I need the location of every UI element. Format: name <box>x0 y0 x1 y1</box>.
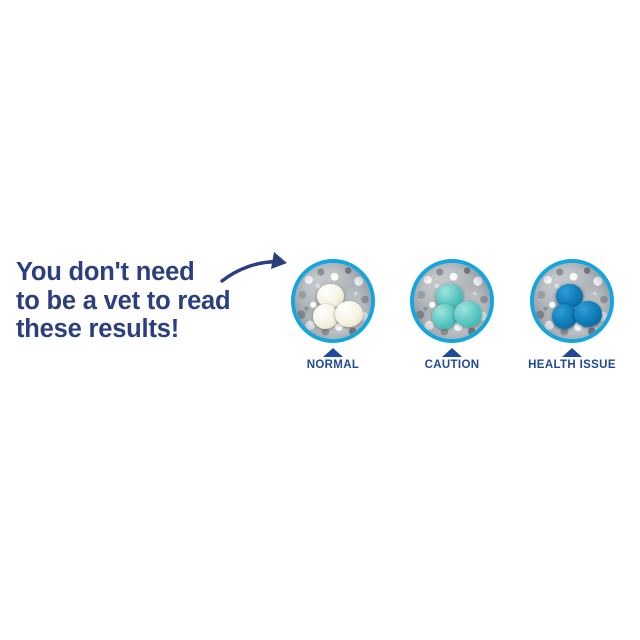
sample-circle-caution <box>410 259 494 343</box>
clump <box>454 301 482 327</box>
results-key-row: NORMAL CAUTION HEALTH ISSUE <box>285 256 625 388</box>
triangle-up-icon <box>323 348 343 357</box>
result-item-health-issue: HEALTH ISSUE <box>524 256 620 372</box>
sample-circle-health-issue <box>530 259 614 343</box>
result-item-caution: CAUTION <box>404 256 500 372</box>
sample-circle-normal <box>291 259 375 343</box>
result-label: NORMAL <box>285 359 381 372</box>
triangle-up-icon <box>442 348 462 357</box>
result-label: CAUTION <box>404 359 500 372</box>
result-item-normal: NORMAL <box>285 256 381 372</box>
clump <box>335 301 363 327</box>
result-label: HEALTH ISSUE <box>524 359 620 372</box>
triangle-up-icon <box>562 348 582 357</box>
curved-arrow-right-icon <box>216 248 296 292</box>
clump <box>574 301 602 327</box>
infographic-canvas: You don't need to be a vet to read these… <box>0 0 640 640</box>
